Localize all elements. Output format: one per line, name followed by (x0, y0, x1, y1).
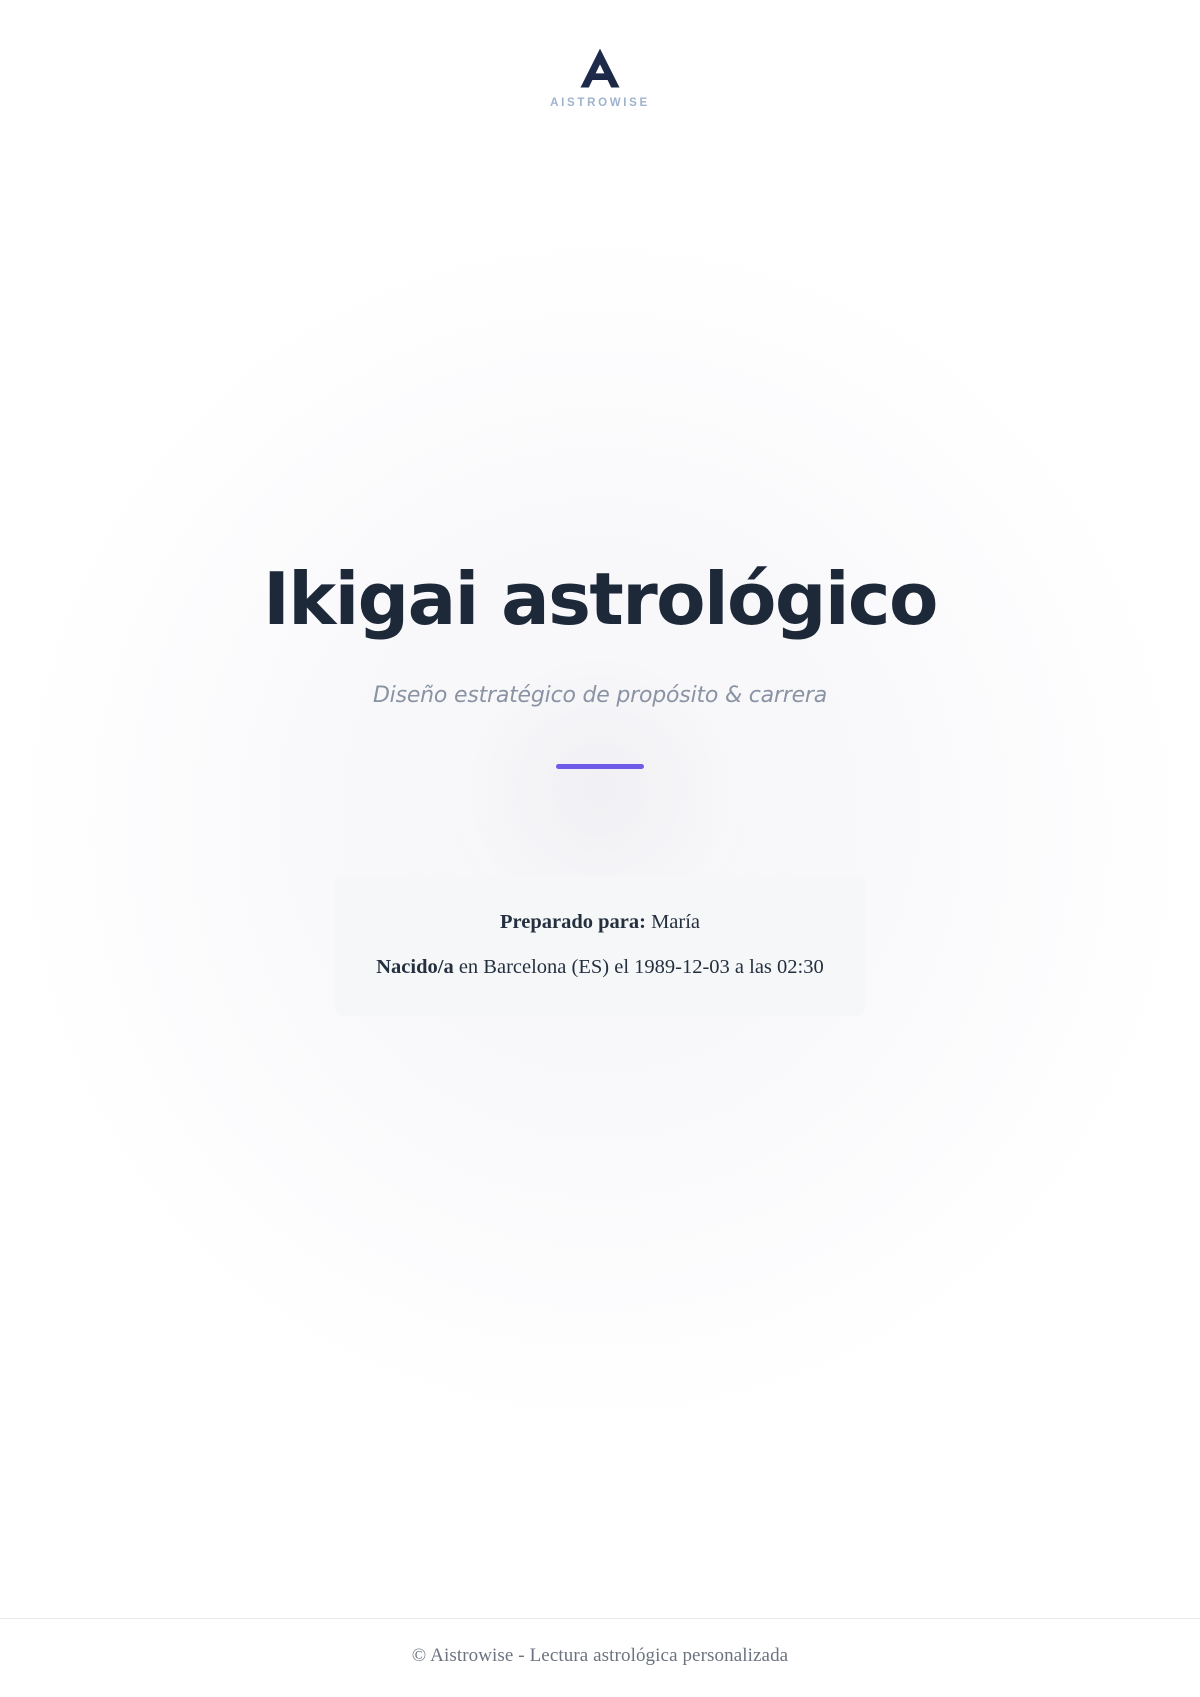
report-cover-page: AISTROWISE Ikigai astrológico Diseño est… (0, 0, 1200, 1697)
page-subtitle: Diseño estratégico de propósito & carrer… (373, 683, 827, 708)
prepared-for-label: Preparado para: (500, 911, 646, 933)
accent-divider (556, 764, 644, 769)
birth-data-line: Nacido/a en Barcelona (ES) el 1989-12-03… (368, 952, 832, 984)
brand-header: AISTROWISE (0, 0, 1200, 109)
birth-data-label: Nacido/a (376, 956, 453, 978)
prepared-for-value: María (651, 911, 700, 933)
recipient-details-card: Preparado para: María Nacido/a en Barcel… (334, 877, 866, 1016)
brand-wordmark: AISTROWISE (550, 97, 650, 109)
page-title: Ikigai astrológico (263, 561, 937, 639)
prepared-for-line: Preparado para: María (368, 907, 832, 939)
page-footer: © Aistrowise - Lectura astrológica perso… (0, 1618, 1200, 1697)
cover-hero: Ikigai astrológico Diseño estratégico de… (0, 109, 1200, 1618)
birth-data-value: en Barcelona (ES) el 1989-12-03 a las 02… (459, 956, 824, 978)
letter-a-logo-icon (572, 46, 628, 90)
footer-copyright: © Aistrowise - Lectura astrológica perso… (0, 1645, 1200, 1667)
